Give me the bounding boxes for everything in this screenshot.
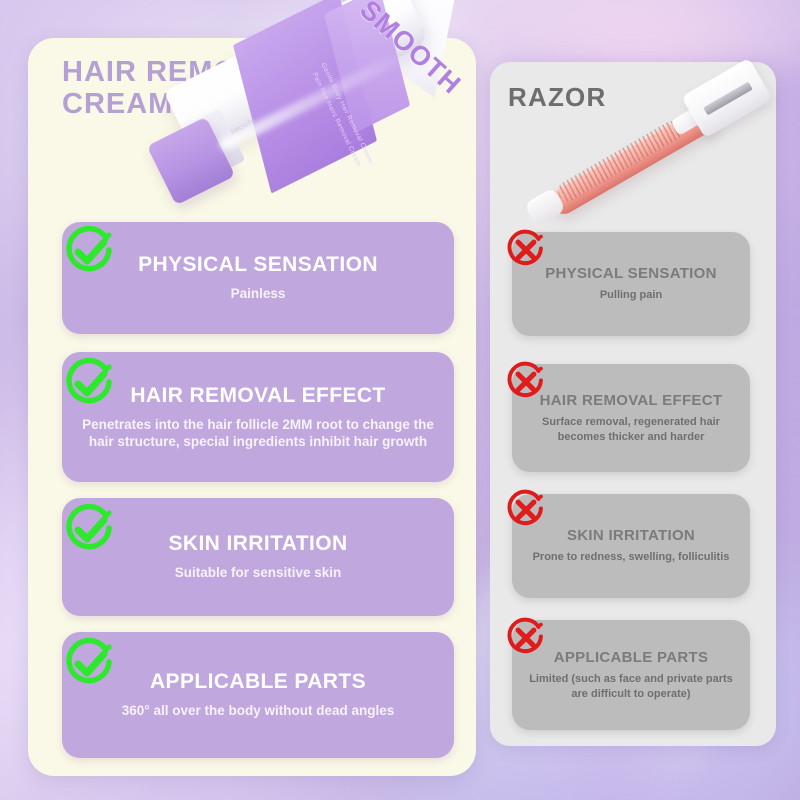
feature-description: Limited (such as face and private parts … xyxy=(526,672,736,701)
feature-description: Painless xyxy=(231,285,286,302)
feature-title: PHYSICAL SENSATION xyxy=(138,253,378,277)
feature-card-good-1[interactable]: PHYSICAL SENSATION Painless xyxy=(62,222,454,334)
feature-card-good-2[interactable]: HAIR REMOVAL EFFECT Penetrates into the … xyxy=(62,352,454,482)
feature-description: 360° all over the body without dead angl… xyxy=(122,702,394,719)
feature-title: PHYSICAL SENSATION xyxy=(545,265,717,282)
cross-circle-icon xyxy=(504,228,548,272)
feature-description: Penetrates into the hair follicle 2MM ro… xyxy=(76,416,440,451)
check-circle-icon xyxy=(62,356,118,412)
cream-tube-image: SMOOTH Gentle Body Hair Removal Cream-Pa… xyxy=(150,0,480,197)
feature-title: APPLICABLE PARTS xyxy=(554,649,709,666)
check-circle-icon xyxy=(62,636,118,692)
check-circle-icon xyxy=(62,502,118,558)
feature-title: SKIN IRRITATION xyxy=(168,532,347,556)
feature-title: APPLICABLE PARTS xyxy=(150,670,366,694)
feature-description: Prone to redness, swelling, folliculitis xyxy=(533,550,730,564)
feature-title: HAIR REMOVAL EFFECT xyxy=(130,384,385,408)
cross-circle-icon xyxy=(504,360,548,404)
feature-description: Pulling pain xyxy=(600,288,662,302)
cross-circle-icon xyxy=(504,616,548,660)
razor-image xyxy=(516,56,778,228)
feature-description: Surface removal, regenerated hair become… xyxy=(526,415,736,444)
feature-card-good-4[interactable]: APPLICABLE PARTS 360° all over the body … xyxy=(62,632,454,758)
comparison-infographic: HAIR REMOVAL CREAM SMOOTH Gentle Body Ha… xyxy=(0,0,800,800)
feature-description: Suitable for sensitive skin xyxy=(175,564,342,581)
feature-title: HAIR REMOVAL EFFECT xyxy=(540,392,723,409)
cross-circle-icon xyxy=(504,488,548,532)
razor-grip-ridges xyxy=(554,117,685,204)
check-circle-icon xyxy=(62,224,118,280)
feature-card-good-3[interactable]: SKIN IRRITATION Suitable for sensitive s… xyxy=(62,498,454,616)
feature-title: SKIN IRRITATION xyxy=(567,527,695,544)
